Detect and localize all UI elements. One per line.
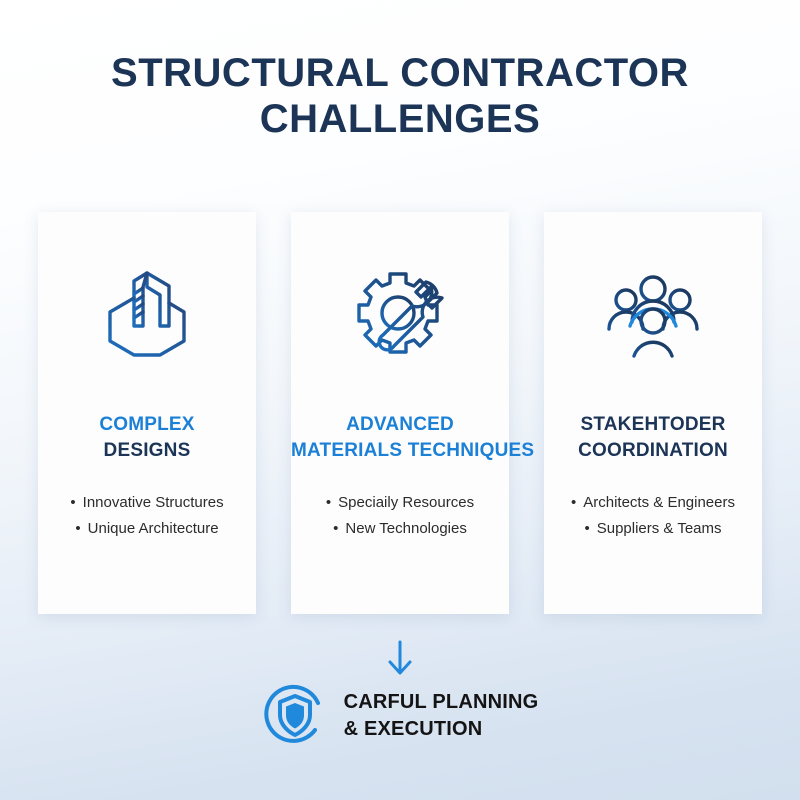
card-bullet-list: Speciaily Resources New Technologies — [291, 490, 509, 542]
page-title: STRUCTURAL CONTRACTOR CHALLENGES — [0, 50, 800, 142]
outcome-text-line-2: & EXECUTION — [344, 716, 539, 743]
list-item: Unique Architecture — [38, 516, 256, 542]
page-title-line-1: STRUCTURAL CONTRACTOR — [0, 50, 800, 96]
gear-wrench-icon — [350, 264, 450, 364]
list-item: Speciaily Resources — [291, 490, 509, 516]
infographic-canvas: STRUCTURAL CONTRACTOR CHALLENGES — [0, 0, 800, 800]
card-title-group: ADVANCED MATERIALS TECHNIQUES — [291, 412, 509, 464]
flow-connector — [0, 640, 800, 678]
list-item: New Technologies — [291, 516, 509, 542]
card-title-line-1: COMPLEX — [38, 412, 256, 438]
card-title-group: STAKEHTODER COORDINATION — [544, 412, 762, 464]
arrow-down-icon — [384, 640, 416, 678]
challenge-card-complex-designs[interactable]: COMPLEX DESIGNS Innovative Structures Un… — [38, 212, 256, 614]
card-title-group: COMPLEX DESIGNS — [38, 412, 256, 464]
card-title-line-2: MATERIALS TECHNIQUES — [291, 438, 509, 464]
card-bullet-list: Architects & Engineers Suppliers & Teams — [544, 490, 762, 542]
card-title-line-2: COORDINATION — [544, 438, 762, 464]
challenge-card-stakeholder-coordination[interactable]: STAKEHTODER COORDINATION Architects & En… — [544, 212, 762, 614]
building-icon — [97, 264, 197, 364]
card-title-line-1: STAKEHTODER — [544, 412, 762, 438]
challenge-card-advanced-materials[interactable]: ADVANCED MATERIALS TECHNIQUES Speciaily … — [291, 212, 509, 614]
page-title-line-2: CHALLENGES — [0, 96, 800, 142]
card-bullet-list: Innovative Structures Unique Architectur… — [38, 490, 256, 542]
list-item: Innovative Structures — [38, 490, 256, 516]
list-item: Suppliers & Teams — [544, 516, 762, 542]
outcome-banner: CARFUL PLANNING & EXECUTION — [0, 683, 800, 749]
card-title-line-1: ADVANCED — [291, 412, 509, 438]
shield-circle-icon — [262, 683, 328, 749]
people-group-icon — [603, 264, 703, 364]
card-title-line-2: DESIGNS — [38, 438, 256, 464]
outcome-text: CARFUL PLANNING & EXECUTION — [344, 689, 539, 743]
challenge-card-list: COMPLEX DESIGNS Innovative Structures Un… — [38, 212, 762, 614]
outcome-text-line-1: CARFUL PLANNING — [344, 689, 539, 716]
list-item: Architects & Engineers — [544, 490, 762, 516]
